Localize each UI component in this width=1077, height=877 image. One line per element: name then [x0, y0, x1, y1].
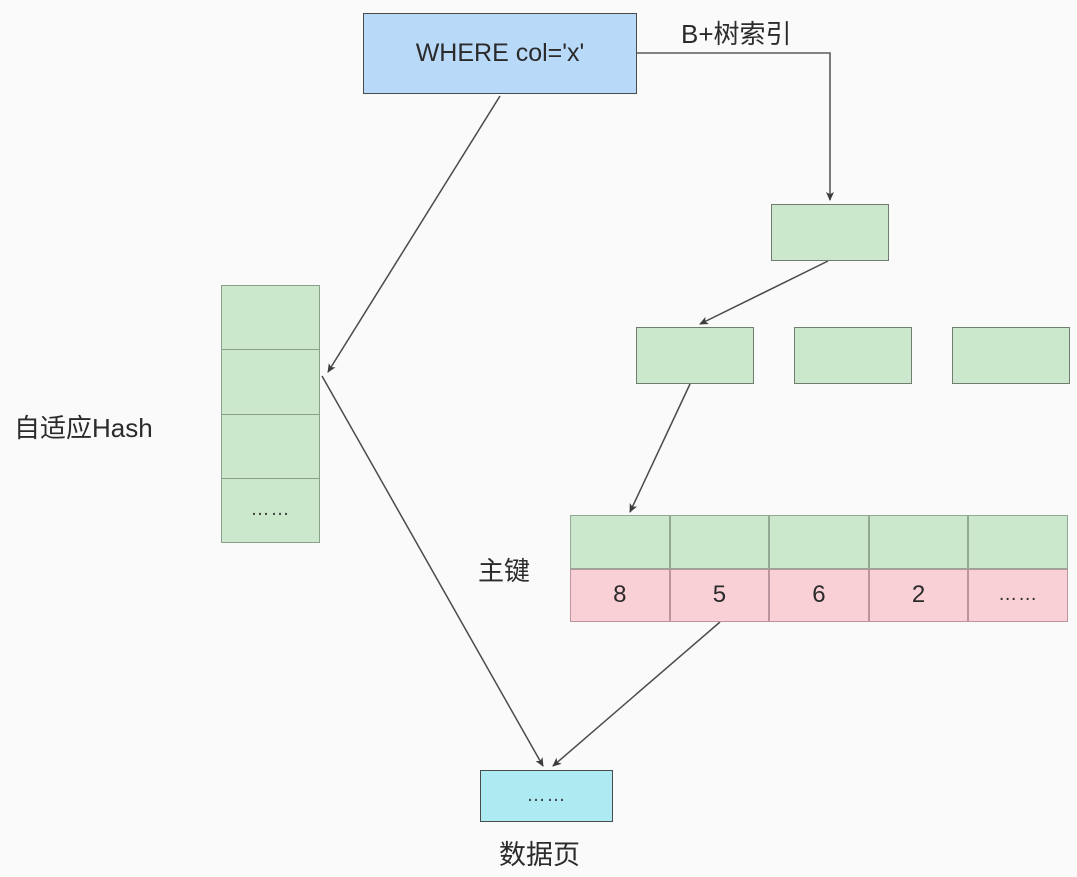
data-page-label: 数据页	[499, 833, 580, 872]
primary-key-cell[interactable]: 8	[570, 569, 670, 623]
btree-mid-node-3[interactable]	[952, 327, 1070, 384]
edge-leaf-to-datapage	[553, 622, 720, 766]
primary-key-cell[interactable]: 6	[769, 569, 869, 623]
adaptive-hash-label: 自适应Hash	[14, 408, 153, 445]
leaf-pointer-cell[interactable]	[670, 515, 770, 569]
hash-cell[interactable]	[222, 350, 319, 414]
btree-index-label: B+树索引	[681, 14, 792, 51]
edge-root-to-mid-node-1	[700, 261, 828, 324]
hash-cell[interactable]: ……	[222, 479, 319, 542]
leaf-pointer-cell[interactable]	[769, 515, 869, 569]
edge-where-to-btree-root	[637, 53, 830, 200]
primary-key-cell[interactable]: 5	[670, 569, 770, 623]
leaf-row-keys: 8 5 6 2 ……	[570, 569, 1068, 623]
edge-mid-node-to-leaf	[630, 384, 690, 512]
primary-key-cell[interactable]: ……	[968, 569, 1068, 623]
leaf-row-pointers	[570, 515, 1068, 569]
btree-mid-node-1[interactable]	[636, 327, 754, 384]
edge-where-to-hash	[328, 96, 500, 372]
hash-cell[interactable]	[222, 286, 319, 350]
leaf-pointer-cell[interactable]	[869, 515, 969, 569]
connector-layer	[0, 0, 1077, 877]
leaf-pointer-cell[interactable]	[570, 515, 670, 569]
primary-key-label: 主键	[478, 551, 530, 588]
leaf-pointer-cell[interactable]	[968, 515, 1068, 569]
data-page-box[interactable]: ……	[480, 770, 613, 822]
diagram-canvas: WHERE col='x' B+树索引 …… 自适应Hash 8 5 6 2 ……	[0, 0, 1077, 877]
leaf-page-table[interactable]: 8 5 6 2 ……	[570, 515, 1068, 622]
btree-root-node[interactable]	[771, 204, 889, 261]
adaptive-hash-stack[interactable]: ……	[221, 285, 320, 543]
hash-cell[interactable]	[222, 415, 319, 479]
btree-mid-node-2[interactable]	[794, 327, 912, 384]
query-condition-box[interactable]: WHERE col='x'	[363, 13, 637, 94]
primary-key-cell[interactable]: 2	[869, 569, 969, 623]
